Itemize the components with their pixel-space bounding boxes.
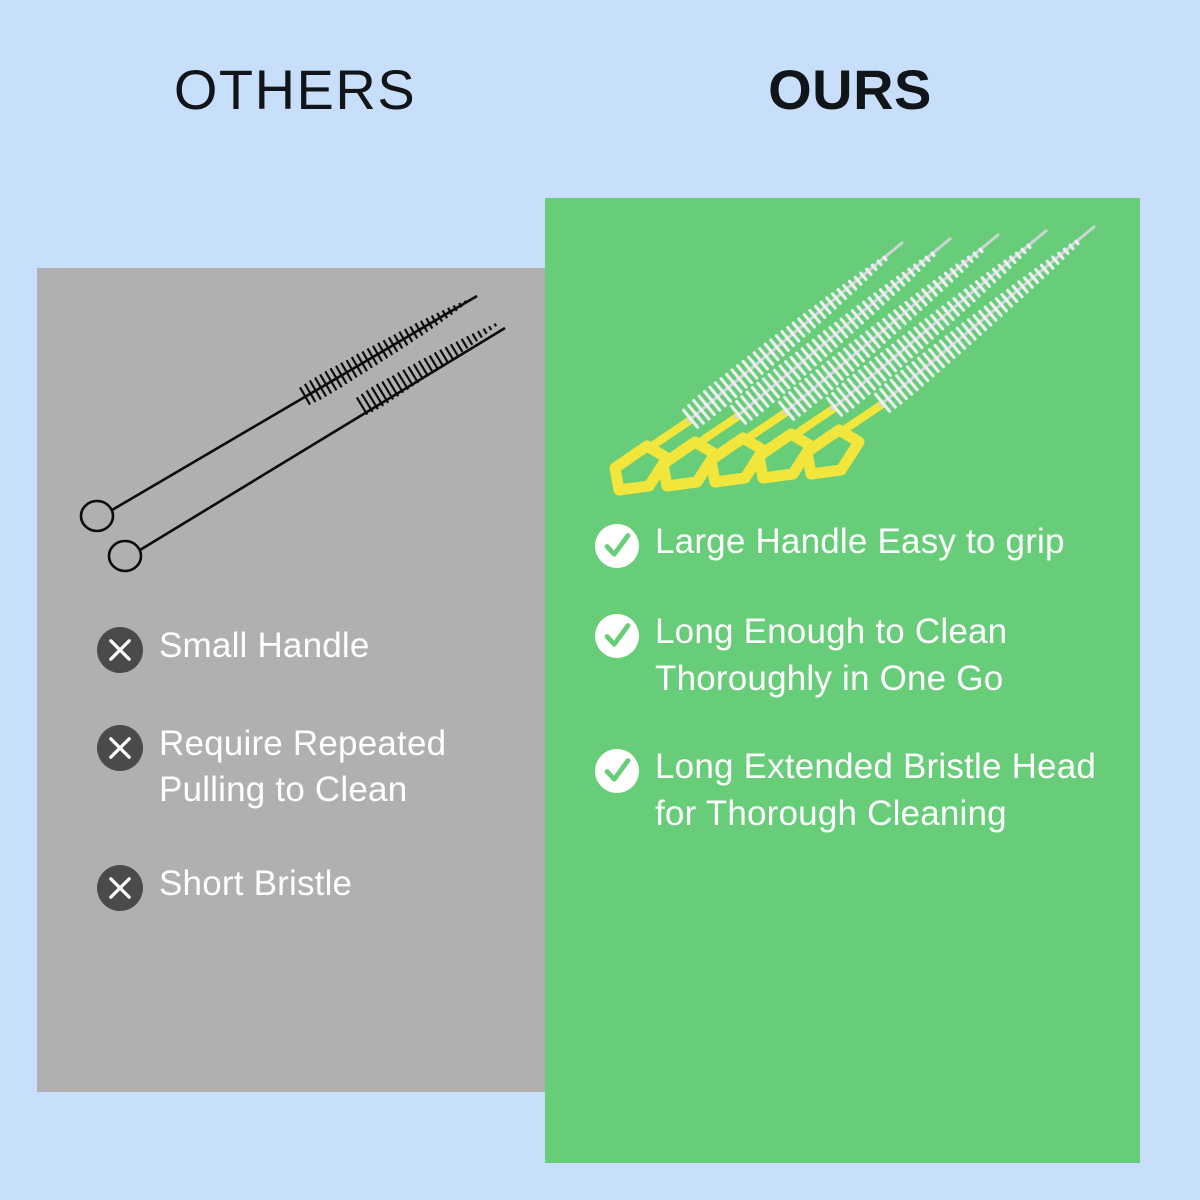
brush-3	[711, 234, 999, 482]
feature-item: Short Bristle	[97, 861, 537, 911]
feature-label: Short Bristle	[159, 861, 352, 907]
product-image-others	[57, 278, 527, 608]
feature-label: Long Extended Bristle Head for Thorough …	[655, 743, 1125, 838]
feature-label: Large Handle Easy to grip	[655, 518, 1065, 565]
feature-item: Long Enough to Clean Thoroughly in One G…	[595, 608, 1125, 703]
column-heading-ours: OURS	[560, 62, 1140, 118]
product-image-ours	[605, 218, 1125, 518]
feature-item: Large Handle Easy to grip	[595, 518, 1125, 568]
feature-label: Require Repeated Pulling to Clean	[159, 721, 537, 813]
others-brush-illustration	[57, 278, 527, 608]
panel-ours: Large Handle Easy to grip Long Enough to…	[545, 198, 1140, 1163]
column-heading-others: OTHERS	[0, 62, 590, 118]
comparison-infographic: OTHERS OURS	[0, 0, 1200, 1200]
brush-4	[759, 230, 1047, 478]
x-circle-icon	[97, 865, 143, 911]
check-circle-icon	[595, 614, 639, 658]
check-circle-icon	[595, 524, 639, 568]
feature-list-others: Small Handle Require Repeated Pulling to…	[97, 623, 537, 959]
feature-item: Small Handle	[97, 623, 537, 673]
brush-2	[109, 316, 505, 571]
x-circle-icon	[97, 627, 143, 673]
feature-item: Require Repeated Pulling to Clean	[97, 721, 537, 813]
feature-item: Long Extended Bristle Head for Thorough …	[595, 743, 1125, 838]
panel-others: Small Handle Require Repeated Pulling to…	[37, 268, 545, 1092]
brush-2	[663, 238, 951, 486]
brush-5	[807, 226, 1095, 474]
feature-label: Small Handle	[159, 623, 370, 669]
x-circle-icon	[97, 725, 143, 771]
ours-brush-illustration	[605, 218, 1125, 518]
brush-1	[81, 293, 477, 531]
feature-label: Long Enough to Clean Thoroughly in One G…	[655, 608, 1125, 703]
check-circle-icon	[595, 749, 639, 793]
brush-1	[615, 242, 903, 490]
feature-list-ours: Large Handle Easy to grip Long Enough to…	[595, 518, 1125, 877]
